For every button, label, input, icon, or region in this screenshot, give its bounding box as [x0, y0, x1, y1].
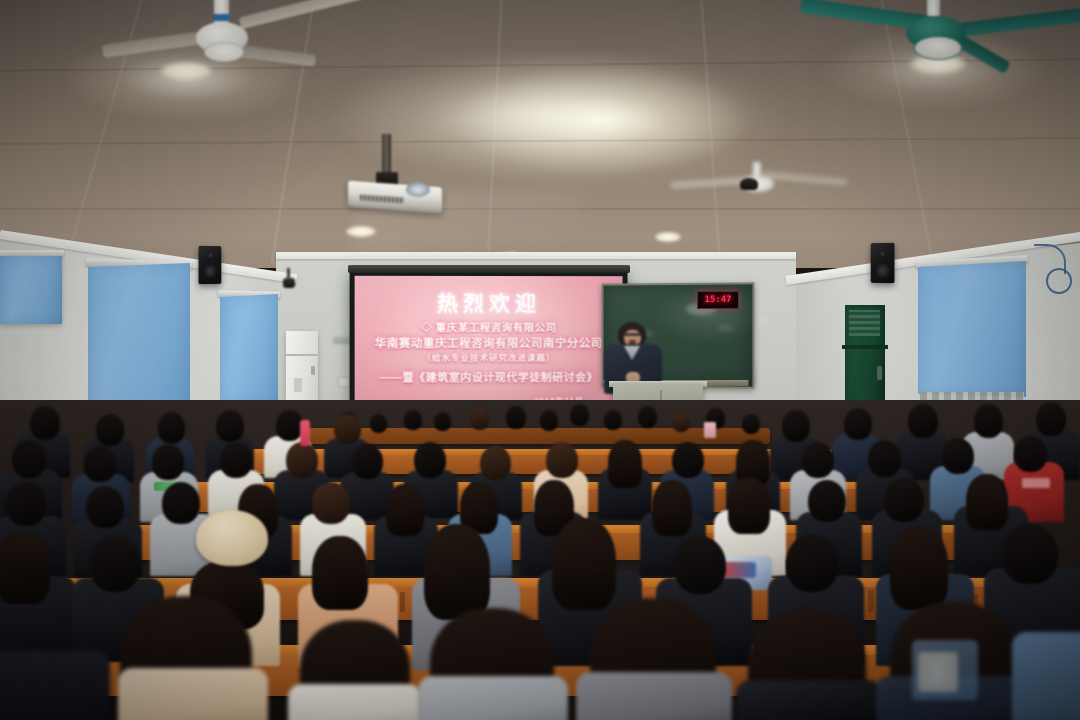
- speaker-tweeter: [207, 252, 214, 259]
- audience-head: [12, 440, 46, 478]
- fan-light-ring: [914, 36, 962, 60]
- audience-head: [276, 410, 303, 441]
- wall-mounted-box: [758, 316, 768, 326]
- audience-head: [782, 410, 810, 442]
- beige-beret-hat: [196, 510, 268, 566]
- audience-head: [1014, 436, 1047, 472]
- audience-head: [742, 414, 760, 434]
- audience-long-hair: [386, 484, 424, 536]
- desk-item-bag-accent: [722, 562, 756, 578]
- audience-head: [844, 408, 872, 440]
- audience-head: [434, 412, 451, 431]
- desk-item-cup: [704, 422, 716, 438]
- speaker-cone: [875, 263, 889, 278]
- audience-head: [30, 406, 60, 440]
- audience-head: [162, 482, 200, 524]
- bench-row-far: [300, 428, 770, 444]
- wall-speaker-left: [198, 246, 221, 284]
- window-blind-right[interactable]: [918, 261, 1026, 397]
- red-hoodie-text: [1022, 478, 1050, 488]
- window-blind-left-far[interactable]: [0, 256, 62, 324]
- audience-head: [404, 410, 422, 430]
- audience-head: [802, 442, 834, 478]
- audience-head: [868, 440, 901, 477]
- audience-head: [570, 404, 589, 426]
- ceiling-light-fixture: [346, 226, 376, 237]
- wall-notice-sign: [333, 336, 351, 344]
- projection-screen-surface: 热烈欢迎 ◇ 重庆某工程咨询有限公司 华南赛动重庆工程咨询有限公司南宁分公司 （…: [355, 276, 623, 409]
- audience-head: [540, 410, 558, 431]
- audience-head: [480, 446, 511, 480]
- audience-head: [84, 446, 116, 482]
- audience-head: [414, 442, 446, 478]
- audience-head: [1002, 524, 1058, 584]
- ceiling-fan-left: [110, 0, 360, 84]
- desk-item-bottle: [300, 420, 310, 446]
- camera-bracket: [287, 268, 290, 279]
- audience-torso-front: [118, 668, 268, 720]
- audience-head: [152, 444, 184, 480]
- audience-long-hair: [312, 536, 368, 610]
- slide-line-3: （给水专业技术研究改进课题）: [355, 352, 623, 364]
- fan-rod-band: [213, 14, 230, 21]
- bench-slat: [868, 590, 874, 612]
- audience-head: [506, 406, 526, 429]
- door-frame-rail: [842, 345, 888, 349]
- led-clock-display: 15:47: [704, 295, 731, 305]
- audience-head: [334, 414, 361, 444]
- audience-torso-front: [576, 672, 732, 720]
- audience-head: [220, 442, 252, 478]
- audience-head: [470, 408, 489, 430]
- audience-head: [808, 480, 846, 522]
- ceiling-fan-center: [670, 160, 850, 206]
- wall-led-clock: 15:47: [697, 291, 739, 309]
- audience-head: [286, 442, 318, 478]
- audience-head: [90, 536, 140, 592]
- speaker-cone: [203, 264, 216, 278]
- audience-head: [546, 442, 578, 478]
- audience-head: [672, 442, 704, 478]
- graphic-print: [918, 652, 958, 692]
- wall-speaker-right: [871, 243, 895, 283]
- speaker-tweeter: [879, 250, 886, 257]
- ceiling-projector: [340, 134, 450, 220]
- audience-head: [638, 406, 657, 428]
- screen-roller-housing: [348, 265, 630, 273]
- audience-head: [370, 414, 387, 433]
- cabinet-latch[interactable]: [311, 366, 315, 375]
- audience-long-hair: [608, 440, 642, 488]
- cabinet-door-seam: [286, 354, 318, 356]
- audience-head: [96, 414, 124, 446]
- audience-long-hair: [728, 478, 770, 534]
- projection-screen: 热烈欢迎 ◇ 重庆某工程咨询有限公司 华南赛动重庆工程咨询有限公司南宁分公司 （…: [350, 271, 628, 414]
- wall-ceiling-trim-front: [276, 252, 796, 259]
- fan-downrod: [927, 0, 940, 16]
- audience-head: [674, 536, 726, 594]
- ceiling-dome-camera: [740, 178, 758, 190]
- audience-head: [312, 482, 350, 524]
- ceiling-seam: [0, 208, 1080, 210]
- ceiling-light-fixture: [655, 232, 681, 242]
- audience-long-hair: [652, 480, 692, 536]
- fan-blade: [762, 170, 848, 185]
- slide-title: 热烈欢迎: [355, 288, 623, 318]
- speaker-glasses: [624, 333, 641, 336]
- audience-head: [158, 412, 185, 444]
- audience-torso-front: [288, 684, 422, 720]
- cabinet-label: [294, 378, 302, 392]
- fan-light-ring: [204, 42, 244, 62]
- audience-head: [1036, 402, 1066, 436]
- audience-torso-front: [736, 680, 882, 720]
- audience-head: [216, 410, 244, 442]
- audience-long-hair: [0, 532, 50, 604]
- audience-long-hair: [424, 524, 490, 620]
- audience-head: [942, 438, 974, 474]
- window-blind-left-near[interactable]: [88, 263, 190, 413]
- audience-long-hair: [552, 518, 616, 610]
- audience-torso-front: [0, 650, 110, 720]
- audience-head: [604, 410, 622, 430]
- audience-head: [6, 482, 46, 526]
- projector-lens: [406, 182, 430, 197]
- audience-head: [672, 412, 690, 432]
- audience-torso-front: [418, 676, 568, 720]
- door-window: [849, 310, 880, 336]
- window-blind-left-mid[interactable]: [220, 294, 278, 404]
- audience-head: [86, 486, 124, 528]
- audience-head: [352, 444, 383, 479]
- slide-line-1: ◇ 重庆某工程咨询有限公司: [355, 320, 623, 335]
- audience-head: [786, 534, 838, 592]
- audience-long-hair: [966, 474, 1008, 530]
- slide-line-4: ——暨《建筑室内设计现代学徒制研讨会》: [355, 369, 623, 385]
- wall-outlet: [338, 377, 350, 387]
- lecture-hall-photo: 热烈欢迎 ◇ 重庆某工程咨询有限公司 华南赛动重庆工程咨询有限公司南宁分公司 （…: [0, 0, 1080, 720]
- slide-line-2: 华南赛动重庆工程咨询有限公司南宁分公司: [355, 335, 623, 351]
- ceiling-fan-right: [806, 0, 1080, 84]
- audience-head: [908, 404, 938, 438]
- bench-slat: [400, 592, 405, 612]
- audience-torso-front: [1012, 632, 1080, 720]
- door-handle[interactable]: [877, 366, 882, 380]
- fan-blade: [238, 0, 365, 29]
- wall-camera-left: [283, 278, 295, 288]
- audience-long-hair: [890, 526, 948, 610]
- chalk-smudge: [718, 325, 734, 331]
- audience-head: [884, 478, 924, 522]
- audience-head: [974, 404, 1003, 438]
